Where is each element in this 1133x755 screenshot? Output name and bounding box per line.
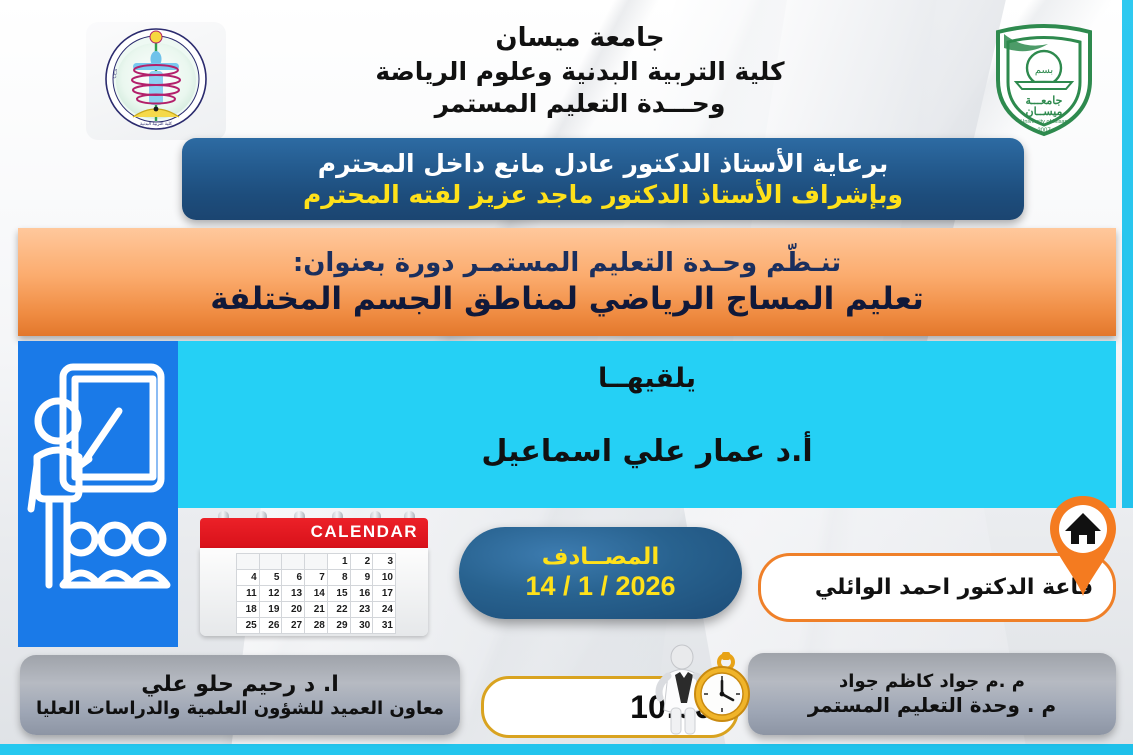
- calendar-day-cell: 29: [327, 618, 350, 634]
- calendar-day-cell: 7: [305, 570, 328, 586]
- calendar-day-cell: 28: [305, 618, 328, 634]
- calendar-day-cell: 2: [350, 554, 373, 570]
- college-emblem-icon: كلية التربية البدنية MISAN UNIVERSITY · …: [86, 22, 226, 140]
- right-edge-strip: [1122, 0, 1133, 508]
- footer-left-box: ا. د رحيم حلو علي معاون العميد للشؤون ال…: [20, 655, 460, 735]
- calendar-day-cell: [259, 554, 282, 570]
- calendar-day-cell: 23: [350, 602, 373, 618]
- calendar-day-cell: 22: [327, 602, 350, 618]
- calendar-week-row: 123: [237, 554, 396, 570]
- calendar-day-cell: 20: [282, 602, 305, 618]
- misan-university-shield-icon: بسم جامعـــة ميســان University of Misan…: [984, 16, 1104, 140]
- calendar-day-cell: 5: [259, 570, 282, 586]
- calendar-day-cell: 18: [237, 602, 260, 618]
- bottom-edge-strip: [0, 744, 1133, 755]
- calendar-day-cell: 24: [373, 602, 396, 618]
- date-badge: المصــادف 14 / 1 / 2026: [459, 527, 742, 619]
- calendar-day-cell: 17: [373, 586, 396, 602]
- svg-text:كلية التربية البدنية: كلية التربية البدنية: [140, 121, 172, 126]
- calendar-grid: 1234567891011121314151617181920212223242…: [236, 553, 396, 634]
- calendar-day-cell: [305, 554, 328, 570]
- svg-text:University of Misan: University of Misan: [1020, 119, 1067, 125]
- calendar-day-cell: 11: [237, 586, 260, 602]
- patronage-line-1: برعاية الأستاذ الدكتور عادل مانع داخل ال…: [318, 149, 888, 178]
- calendar-week-row: 45678910: [237, 570, 396, 586]
- calendar-day-cell: 1: [327, 554, 350, 570]
- poster-canvas: كلية التربية البدنية MISAN UNIVERSITY · …: [0, 0, 1133, 755]
- header-college: كلية التربية البدنية وعلوم الرياضة: [330, 56, 830, 89]
- footer-right-name: م .م جواد كاظم جواد: [839, 671, 1025, 692]
- course-title-line-2: تعليم المساج الرياضي لمناطق الجسم المختل…: [210, 281, 924, 317]
- teacher-classroom-icon: [18, 341, 178, 647]
- header-university: جامعة ميسان: [330, 22, 830, 56]
- course-title-line-1: تنـظّم وحـدة التعليم المستمـر دورة بعنوا…: [293, 248, 841, 278]
- calendar-day-cell: 16: [350, 586, 373, 602]
- calendar-day-cell: 19: [259, 602, 282, 618]
- calendar-week-row: 18192021222324: [237, 602, 396, 618]
- calendar-header: CALENDAR: [200, 518, 428, 548]
- calendar-day-cell: 30: [350, 618, 373, 634]
- calendar-day-cell: 21: [305, 602, 328, 618]
- calendar-day-cell: 25: [237, 618, 260, 634]
- header-unit: وحـــدة التعليم المستمر: [330, 88, 830, 121]
- footer-right-title: م . وحدة التعليم المستمر: [808, 693, 1056, 717]
- speaker-name: أ.د عمار علي اسماعيل: [178, 434, 1116, 469]
- calendar-day-cell: 4: [237, 570, 260, 586]
- location-pin-home-icon: [1046, 492, 1120, 600]
- patronage-line-2: وبإشراف الأستاذ الدكتور ماجد عزيز لفته ا…: [303, 180, 903, 209]
- calendar-day-cell: 26: [259, 618, 282, 634]
- presented-by-label: يلقيهــا: [178, 363, 1116, 394]
- calendar-day-cell: 8: [327, 570, 350, 586]
- poster-header: جامعة ميسان كلية التربية البدنية وعلوم ا…: [330, 22, 830, 121]
- date-label: المصــادف: [542, 544, 659, 570]
- calendar-day-cell: 14: [305, 586, 328, 602]
- calendar-body: 1234567891011121314151617181920212223242…: [200, 548, 428, 636]
- svg-text:بسم: بسم: [1035, 65, 1053, 76]
- calendar-day-cell: 10: [373, 570, 396, 586]
- footer-left-name: ا. د رحيم حلو علي: [141, 672, 338, 697]
- patronage-banner: برعاية الأستاذ الدكتور عادل مانع داخل ال…: [182, 138, 1024, 220]
- calendar-icon: CALENDAR 1234567891011121314151617181920…: [190, 511, 438, 643]
- calendar-day-cell: 6: [282, 570, 305, 586]
- calendar-week-row: 11121314151617: [237, 586, 396, 602]
- date-value: 14 / 1 / 2026: [525, 571, 675, 602]
- calendar-day-cell: 3: [373, 554, 396, 570]
- calendar-day-cell: [282, 554, 305, 570]
- calendar-day-cell: 9: [350, 570, 373, 586]
- stopwatch-figure-icon: [646, 644, 750, 740]
- svg-text:ميســان: ميســان: [1026, 106, 1063, 118]
- footer-right-box: م .م جواد كاظم جواد م . وحدة التعليم الم…: [748, 653, 1116, 735]
- calendar-week-row: 25262728293031: [237, 618, 396, 634]
- calendar-day-cell: 15: [327, 586, 350, 602]
- calendar-day-cell: 27: [282, 618, 305, 634]
- calendar-day-cell: 12: [259, 586, 282, 602]
- calendar-day-cell: 13: [282, 586, 305, 602]
- speaker-panel: يلقيهــا أ.د عمار علي اسماعيل: [178, 341, 1116, 508]
- calendar-header-label: CALENDAR: [311, 522, 418, 542]
- course-title-banner: تنـظّم وحـدة التعليم المستمـر دورة بعنوا…: [18, 228, 1116, 336]
- footer-left-title: معاون العميد للشؤون العلمية والدراسات ال…: [36, 698, 444, 719]
- svg-text:2007: 2007: [1037, 128, 1051, 134]
- calendar-day-cell: [237, 554, 260, 570]
- calendar-day-cell: 31: [373, 618, 396, 634]
